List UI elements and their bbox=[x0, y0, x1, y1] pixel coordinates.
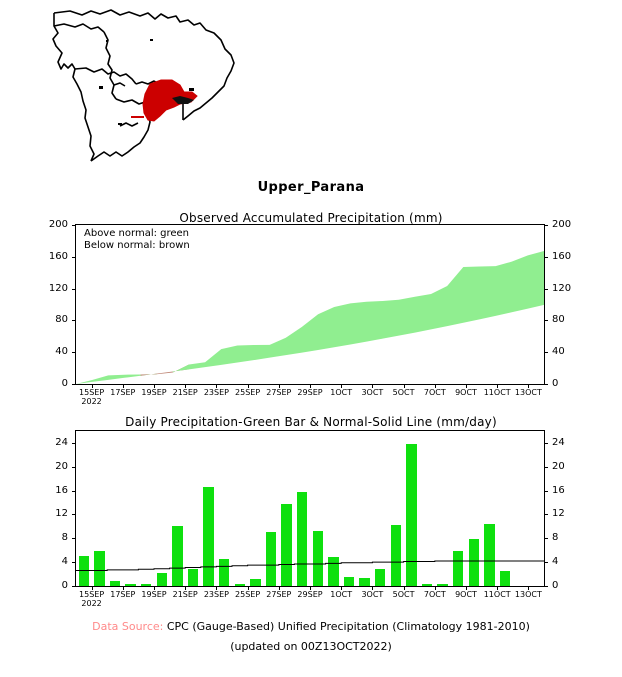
y-tick-mark bbox=[72, 538, 76, 539]
y-tick-right: 24 bbox=[552, 437, 592, 448]
x-tick-label: 1OCT bbox=[330, 590, 352, 599]
area-above-normal bbox=[173, 251, 544, 373]
x-tick-label: 9OCT bbox=[455, 590, 477, 599]
y-tick-left: 24 bbox=[22, 437, 68, 448]
x-tick-mark bbox=[404, 586, 405, 590]
x-tick-mark bbox=[92, 384, 93, 388]
x-tick-label: 15SEP bbox=[79, 388, 104, 397]
data-source-label: Data Source: bbox=[92, 620, 163, 633]
y-tick-right: 120 bbox=[552, 283, 592, 294]
y-tick-mark bbox=[544, 225, 548, 226]
x-tick-mark bbox=[372, 586, 373, 590]
y-tick-mark bbox=[544, 467, 548, 468]
x-tick-mark bbox=[497, 586, 498, 590]
x-tick-mark bbox=[404, 384, 405, 388]
y-tick-right: 80 bbox=[552, 314, 592, 325]
x-tick-mark bbox=[185, 586, 186, 590]
x-tick-mark bbox=[528, 384, 529, 388]
x-tick-label: 27SEP bbox=[266, 590, 291, 599]
legend-above-normal: Above normal: green bbox=[84, 228, 190, 240]
x-tick-label: 3OCT bbox=[361, 388, 383, 397]
y-tick-right: 200 bbox=[552, 219, 592, 230]
x-tick-label: 27SEP bbox=[266, 388, 291, 397]
y-tick-left: 0 bbox=[22, 378, 68, 389]
x-tick-mark bbox=[528, 586, 529, 590]
map-basin-outlet bbox=[131, 116, 144, 118]
x-tick-label: 29SEP bbox=[297, 590, 322, 599]
x-tick-label: 3OCT bbox=[361, 590, 383, 599]
x-tick-mark bbox=[154, 384, 155, 388]
y-tick-right: 12 bbox=[552, 508, 592, 519]
y-tick-right: 4 bbox=[552, 556, 592, 567]
map-svg bbox=[28, 6, 278, 166]
y-tick-left: 200 bbox=[22, 219, 68, 230]
y-tick-right: 20 bbox=[552, 461, 592, 472]
x-tick-label: 13OCT bbox=[515, 388, 542, 397]
accumulated-precipitation-chart: Above normal: green Below normal: brown … bbox=[0, 224, 622, 389]
x-tick-label: 17SEP bbox=[110, 590, 135, 599]
y-tick-mark bbox=[72, 443, 76, 444]
x-tick-mark bbox=[497, 384, 498, 388]
y-tick-left: 20 bbox=[22, 461, 68, 472]
x-tick-mark bbox=[123, 586, 124, 590]
y-tick-mark bbox=[544, 320, 548, 321]
y-tick-mark bbox=[72, 257, 76, 258]
y-tick-mark bbox=[72, 467, 76, 468]
x-tick-label: 7OCT bbox=[424, 388, 446, 397]
page-title: Upper_Parana bbox=[0, 180, 622, 195]
precipitation-monitoring-page: Upper_Parana Observed Accumulated Precip… bbox=[0, 0, 622, 677]
x-tick-mark bbox=[372, 384, 373, 388]
x-tick-label: 19SEP bbox=[141, 590, 166, 599]
upper-chart-legend: Above normal: green Below normal: brown bbox=[84, 228, 190, 252]
y-tick-left: 160 bbox=[22, 251, 68, 262]
y-tick-mark bbox=[544, 538, 548, 539]
y-tick-mark bbox=[72, 491, 76, 492]
x-tick-mark bbox=[279, 586, 280, 590]
y-tick-left: 16 bbox=[22, 485, 68, 496]
legend-below-normal: Below normal: brown bbox=[84, 240, 190, 252]
y-tick-mark bbox=[544, 257, 548, 258]
y-tick-mark bbox=[72, 586, 76, 587]
y-tick-mark bbox=[544, 443, 548, 444]
map-outline bbox=[53, 10, 234, 161]
x-tick-mark bbox=[185, 384, 186, 388]
south-america-map bbox=[28, 6, 278, 166]
y-tick-right: 160 bbox=[552, 251, 592, 262]
x-tick-label: 13OCT bbox=[515, 590, 542, 599]
x-tick-label: 29SEP bbox=[297, 388, 322, 397]
data-source-text: CPC (Gauge-Based) Unified Precipitation … bbox=[167, 620, 530, 633]
x-tick-label: 5OCT bbox=[393, 590, 415, 599]
x-tick-mark bbox=[123, 384, 124, 388]
x-tick-mark bbox=[216, 384, 217, 388]
x-tick-label: 15SEP bbox=[79, 590, 104, 599]
x-tick-label: 23SEP bbox=[204, 590, 229, 599]
y-tick-left: 8 bbox=[22, 532, 68, 543]
data-source-line: Data Source: CPC (Gauge-Based) Unified P… bbox=[0, 620, 622, 633]
y-tick-left: 40 bbox=[22, 346, 68, 357]
x-tick-mark bbox=[92, 586, 93, 590]
y-tick-mark bbox=[72, 225, 76, 226]
y-tick-mark bbox=[544, 586, 548, 587]
y-tick-right: 0 bbox=[552, 378, 592, 389]
x-tick-mark bbox=[310, 384, 311, 388]
y-tick-left: 80 bbox=[22, 314, 68, 325]
y-tick-mark bbox=[72, 352, 76, 353]
x-tick-mark bbox=[310, 586, 311, 590]
upper-panel-title: Observed Accumulated Precipitation (mm) bbox=[0, 211, 622, 225]
lower-chart-plot-area bbox=[76, 431, 544, 586]
y-tick-left: 4 bbox=[22, 556, 68, 567]
x-axis-year-label: 2022 bbox=[81, 397, 101, 406]
x-axis-year-label: 2022 bbox=[81, 599, 101, 608]
x-tick-mark bbox=[154, 586, 155, 590]
updated-line: (updated on 00Z13OCT2022) bbox=[0, 640, 622, 653]
normal-line-svg bbox=[76, 431, 544, 586]
x-tick-label: 19SEP bbox=[141, 388, 166, 397]
x-tick-label: 11OCT bbox=[484, 388, 511, 397]
x-tick-label: 25SEP bbox=[235, 388, 260, 397]
x-tick-label: 9OCT bbox=[455, 388, 477, 397]
x-tick-label: 7OCT bbox=[424, 590, 446, 599]
x-tick-label: 21SEP bbox=[173, 590, 198, 599]
x-tick-mark bbox=[248, 586, 249, 590]
y-tick-mark bbox=[544, 289, 548, 290]
x-tick-mark bbox=[341, 586, 342, 590]
x-tick-mark bbox=[341, 384, 342, 388]
x-tick-label: 23SEP bbox=[204, 388, 229, 397]
y-tick-mark bbox=[72, 562, 76, 563]
y-tick-mark bbox=[72, 289, 76, 290]
x-tick-mark bbox=[435, 384, 436, 388]
x-tick-mark bbox=[216, 586, 217, 590]
y-tick-mark bbox=[544, 352, 548, 353]
x-tick-label: 1OCT bbox=[330, 388, 352, 397]
x-tick-label: 17SEP bbox=[110, 388, 135, 397]
x-tick-label: 11OCT bbox=[484, 590, 511, 599]
y-tick-right: 8 bbox=[552, 532, 592, 543]
y-tick-left: 0 bbox=[22, 580, 68, 591]
x-tick-mark bbox=[466, 586, 467, 590]
y-tick-right: 16 bbox=[552, 485, 592, 496]
y-tick-mark bbox=[72, 514, 76, 515]
y-tick-mark bbox=[544, 384, 548, 385]
x-tick-mark bbox=[279, 384, 280, 388]
y-tick-right: 40 bbox=[552, 346, 592, 357]
y-tick-left: 120 bbox=[22, 283, 68, 294]
daily-precipitation-chart: 004488121216162020242415SEP17SEP19SEP21S… bbox=[0, 430, 622, 590]
y-tick-mark bbox=[72, 320, 76, 321]
x-tick-label: 21SEP bbox=[173, 388, 198, 397]
y-tick-right: 0 bbox=[552, 580, 592, 591]
y-tick-mark bbox=[544, 491, 548, 492]
y-tick-mark bbox=[72, 384, 76, 385]
x-tick-label: 5OCT bbox=[393, 388, 415, 397]
x-tick-label: 25SEP bbox=[235, 590, 260, 599]
x-tick-mark bbox=[466, 384, 467, 388]
y-tick-left: 12 bbox=[22, 508, 68, 519]
y-tick-mark bbox=[544, 562, 548, 563]
lower-panel-title: Daily Precipitation-Green Bar & Normal-S… bbox=[0, 415, 622, 429]
y-tick-mark bbox=[544, 514, 548, 515]
normal-line bbox=[76, 561, 544, 571]
x-tick-mark bbox=[248, 384, 249, 388]
x-tick-mark bbox=[435, 586, 436, 590]
